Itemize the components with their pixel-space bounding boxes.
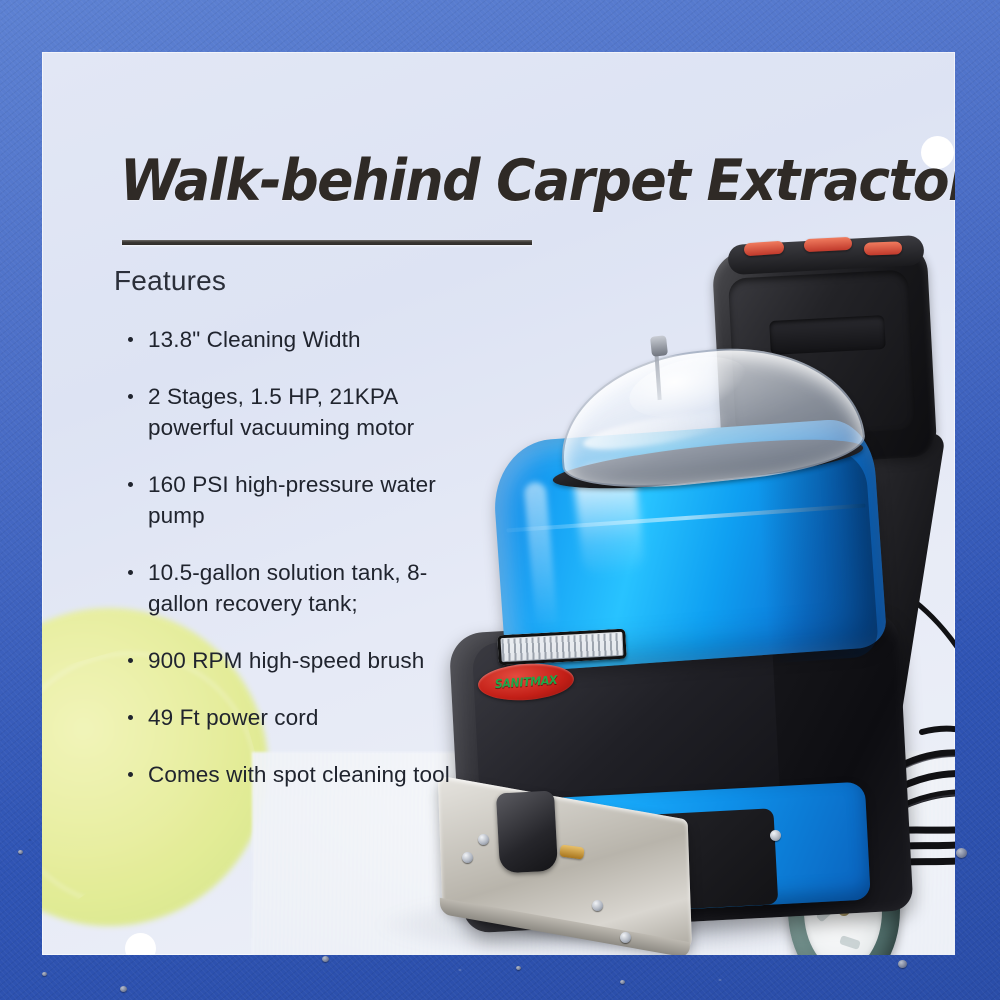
carpet-pebble — [120, 986, 127, 992]
carpet-extractor-product-image: SANITMAX — [432, 232, 955, 955]
feature-item: 160 PSI high-pressure water pump — [122, 469, 482, 531]
carpet-pebble — [322, 956, 329, 962]
content-panel: SANITMAX Walk-behind Carpet Extractor Fe… — [42, 52, 955, 955]
control-switch-center — [804, 237, 853, 252]
plate-screw — [592, 900, 603, 911]
title-divider — [122, 240, 532, 245]
features-list: 13.8" Cleaning Width2 Stages, 1.5 HP, 21… — [122, 324, 482, 816]
features-heading: Features — [114, 265, 226, 297]
feature-item: 900 RPM high-speed brush — [122, 645, 482, 676]
feature-item: 49 Ft power cord — [122, 702, 482, 733]
feature-item: 13.8" Cleaning Width — [122, 324, 482, 355]
carpet-pebble — [898, 960, 907, 968]
feature-item: 10.5-gallon solution tank, 8-gallon reco… — [122, 557, 482, 619]
feature-item: Comes with spot cleaning tool — [122, 759, 482, 790]
carpet-pebble — [42, 972, 47, 976]
brand-badge-label: SANITMAX — [494, 673, 557, 691]
carpet-pebble — [956, 848, 967, 858]
carpet-pebble — [18, 850, 23, 854]
product-feature-card: SANITMAX Walk-behind Carpet Extractor Fe… — [0, 0, 1000, 1000]
solution-tank-shading — [755, 446, 879, 663]
feature-item: 2 Stages, 1.5 HP, 21KPA powerful vacuumi… — [122, 381, 482, 443]
plate-screw — [478, 834, 489, 845]
plate-screw — [620, 932, 631, 943]
carpet-pebble — [620, 980, 625, 984]
page-title: Walk-behind Carpet Extractor — [120, 148, 947, 214]
control-switch-left — [744, 241, 785, 257]
fill-cap — [650, 335, 668, 357]
decorative-dot-bottom-left — [125, 933, 156, 955]
control-panel-recess — [769, 315, 886, 355]
control-switch-right — [864, 241, 902, 255]
plate-screw — [462, 852, 473, 863]
carpet-pebble — [516, 966, 521, 970]
housing-screw — [770, 830, 781, 841]
squeegee-bracket — [496, 791, 558, 874]
